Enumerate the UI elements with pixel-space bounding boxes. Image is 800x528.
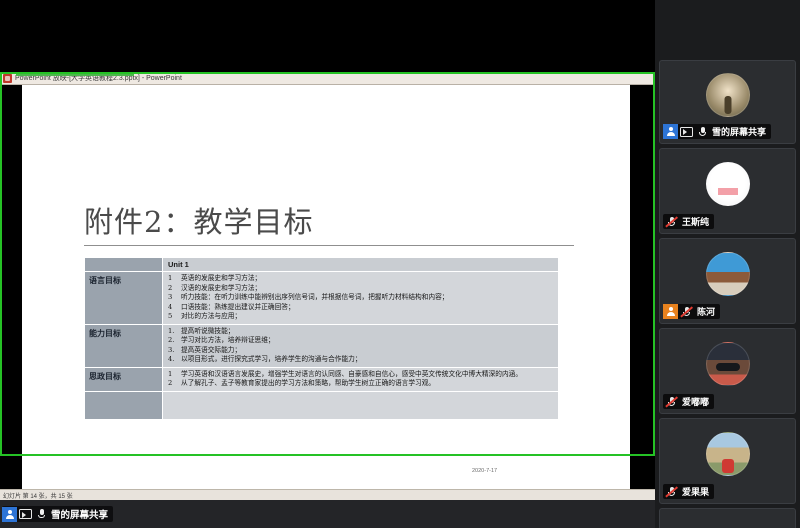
participant-name: 陈河 (695, 305, 720, 318)
person-icon (5, 510, 14, 519)
table-row: 能力目标 1.提高听说微技能； 2.学习对比方法，培养辩证思维； 3.提高英语交… (85, 324, 559, 367)
title-bar-highlight (16, 72, 134, 76)
avatar (706, 432, 750, 476)
active-share-nameplate: 雪的屏幕共享 (2, 506, 113, 522)
share-screen-icon (19, 509, 32, 519)
participant-gallery: 雪的屏幕共享 王斯纯 陈河 爱嘟嘟 (655, 0, 800, 528)
mic-muted-icon (665, 215, 678, 228)
slide-left-margin (0, 85, 22, 97)
mic-on-icon (36, 508, 47, 521)
slide-counter-text: 幻灯片 第 14 张，共 15 张 (3, 491, 73, 500)
table-header-row: Unit 1 (85, 258, 559, 272)
row-label-ideology: 思政目标 (85, 367, 163, 391)
slide-title: 附件2：教学目标 (84, 199, 313, 241)
participant-nameplate: 爱果果 (663, 484, 714, 499)
participant-nameplate: 王斯纯 (663, 214, 714, 229)
teaching-goals-table: Unit 1 语言目标 1英语的发展史和学习方法； 2汉语的发展史和学习方法； … (84, 257, 559, 420)
row-body-ideology: 1学习英语和汉语语言发展史，增强学生对语言的认同感、自豪感和自信心，感受中英文传… (163, 367, 559, 391)
mic-muted-icon (680, 305, 693, 318)
header-cell-unit: Unit 1 (163, 258, 559, 272)
shared-screen-region: PowerPoint 放映-[大学英语教程2.3.pptx] - PowerPo… (0, 0, 655, 500)
row-body-spacer (163, 391, 559, 419)
table-row-spacer (85, 391, 559, 419)
list-item: 5对比的方法与应用； (168, 312, 555, 322)
avatar (706, 342, 750, 386)
row-label-ability: 能力目标 (85, 324, 163, 367)
avatar (706, 162, 750, 206)
participant-name: 爱嘟嘟 (680, 395, 714, 408)
participant-tile-aidudu[interactable]: 爱嘟嘟 (659, 328, 796, 414)
participant-tile-chenhe[interactable]: 陈河 (659, 238, 796, 324)
avatar (706, 73, 750, 117)
participant-name: 王斯纯 (680, 215, 714, 228)
table-body: Unit 1 语言目标 1英语的发展史和学习方法； 2汉语的发展史和学习方法； … (85, 258, 559, 420)
participant-tile-self[interactable]: 雪的屏幕共享 (659, 60, 796, 144)
slide-canvas: 附件2：教学目标 Unit 1 语言目标 1英语的发 (22, 85, 630, 489)
host-badge-icon (663, 304, 678, 319)
powerpoint-title-bar[interactable]: PowerPoint 放映-[大学英语教程2.3.pptx] - PowerPo… (0, 72, 655, 85)
slide-date: 2020-7-17 (472, 468, 497, 474)
self-badge-icon (2, 507, 17, 522)
table-row: 语言目标 1英语的发展史和学习方法； 2汉语的发展史和学习方法； 3听力技能：在… (85, 272, 559, 325)
list-item: 3.提高英语交际能力； (168, 346, 555, 356)
participant-tile-empty[interactable] (659, 508, 796, 528)
powerpoint-app-icon (3, 74, 12, 83)
table-row: 思政目标 1学习英语和汉语语言发展史，增强学生对语言的认同感、自豪感和自信心，感… (85, 367, 559, 391)
list-item: 1英语的发展史和学习方法； (168, 274, 555, 284)
row-body-ability: 1.提高听说微技能； 2.学习对比方法，培养辩证思维； 3.提高英语交际能力； … (163, 324, 559, 367)
participant-nameplate: 爱嘟嘟 (663, 394, 714, 409)
bottom-status-bar: 雪的屏幕共享 (0, 500, 655, 528)
list-item: 1学习英语和汉语语言发展史，增强学生对语言的认同感、自豪感和自信心，感受中英文传… (168, 370, 555, 380)
mic-on-icon (697, 125, 708, 138)
remote-desktop: PowerPoint 放映-[大学英语教程2.3.pptx] - PowerPo… (0, 72, 655, 456)
active-share-name: 雪的屏幕共享 (49, 507, 113, 521)
list-item: 1.提高听说微技能； (168, 327, 555, 337)
list-item: 2.学习对比方法，培养辩证思维； (168, 336, 555, 346)
mic-muted-icon (665, 485, 678, 498)
participant-tile-aiguoguo[interactable]: 爱果果 (659, 418, 796, 504)
list-item: 4.以项目形式，进行探究式学习，培养学生的沟通与合作能力； (168, 355, 555, 365)
mic-muted-icon (665, 395, 678, 408)
share-screen-icon (680, 127, 693, 137)
participant-nameplate: 陈河 (663, 304, 720, 319)
header-cell-blank (85, 258, 163, 272)
row-label-language: 语言目标 (85, 272, 163, 325)
person-icon (666, 127, 675, 136)
row-label-spacer (85, 391, 163, 419)
participant-name: 爱果果 (680, 485, 714, 498)
row-body-language: 1英语的发展史和学习方法； 2汉语的发展史和学习方法； 3听力技能：在听力训练中… (163, 272, 559, 325)
person-icon (666, 307, 675, 316)
list-item: 3听力技能：在听力训练中能辨别出序列信号词，并根据信号词，把握听力材料结构和内容… (168, 293, 555, 303)
slide-title-divider (84, 245, 574, 246)
meeting-screen-share-window: PowerPoint 放映-[大学英语教程2.3.pptx] - PowerPo… (0, 0, 800, 528)
participant-name: 雪的屏幕共享 (710, 125, 771, 138)
self-badge-icon (663, 124, 678, 139)
slide-right-margin (630, 85, 655, 489)
avatar (706, 252, 750, 296)
list-item: 2从了解孔子、孟子等教育家提出的学习方法和策略，帮助学生树立正确的语言学习观。 (168, 379, 555, 389)
participant-nameplate: 雪的屏幕共享 (663, 124, 771, 139)
list-item: 2汉语的发展史和学习方法； (168, 284, 555, 294)
participant-tile-wangsichun[interactable]: 王斯纯 (659, 148, 796, 234)
powerpoint-status-bar: 幻灯片 第 14 张，共 15 张 (0, 489, 655, 500)
list-item: 4口语技能：熟练提出建议并正确回答； (168, 303, 555, 313)
